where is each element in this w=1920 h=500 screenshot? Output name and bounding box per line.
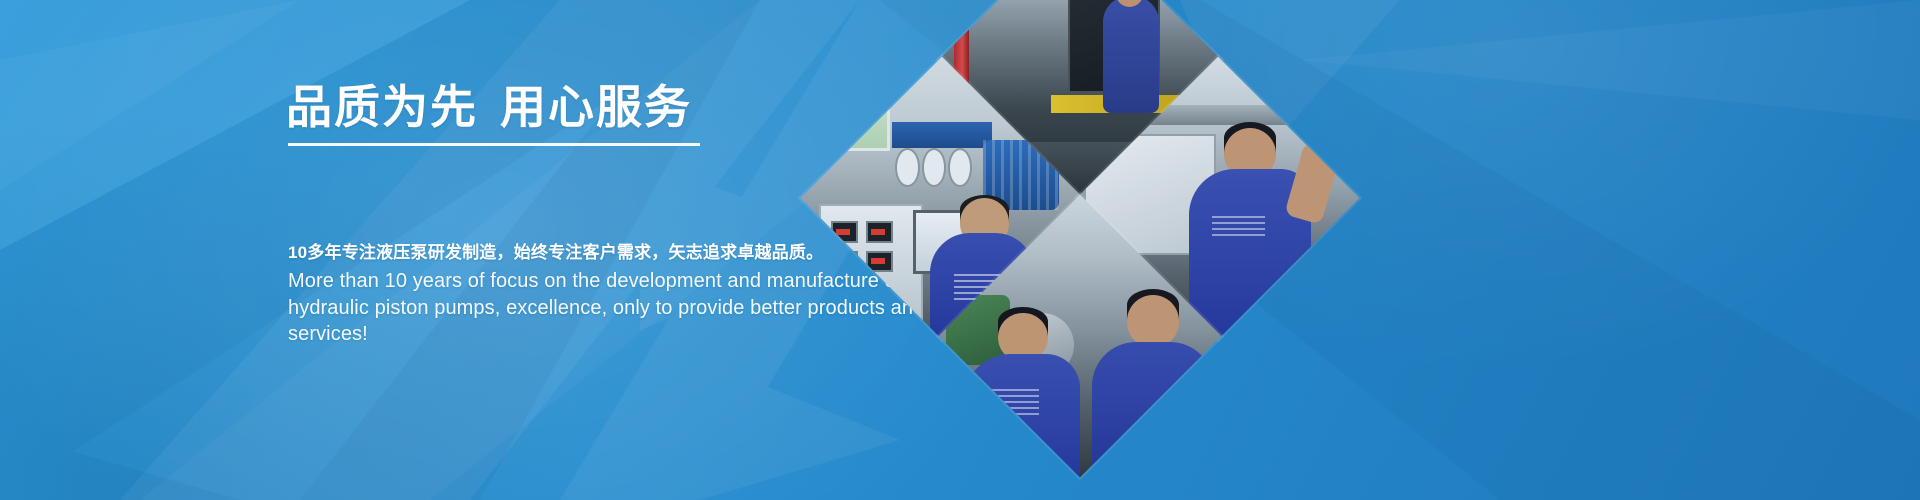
subtitle-chinese: 10多年专注液压泵研发制造，始终专注客户需求，矢志追求卓越品质。 [288, 238, 823, 263]
subtitle-english: More than 10 years of focus on the devel… [288, 268, 928, 348]
headline-part-2: 用心服务 [500, 81, 692, 133]
headline-part-1: 品质为先 [286, 81, 478, 133]
page-title: 品质为先用心服务 [286, 80, 692, 135]
photo-collage [878, 0, 1282, 402]
banner-copy: 品质为先用心服务 10多年专注液压泵研发制造，始终专注客户需求，矢志追求卓越品质… [286, 0, 946, 500]
promo-banner: 品质为先用心服务 10多年专注液压泵研发制造，始终专注客户需求，矢志追求卓越品质… [0, 0, 1920, 500]
headline-underline [288, 143, 700, 146]
